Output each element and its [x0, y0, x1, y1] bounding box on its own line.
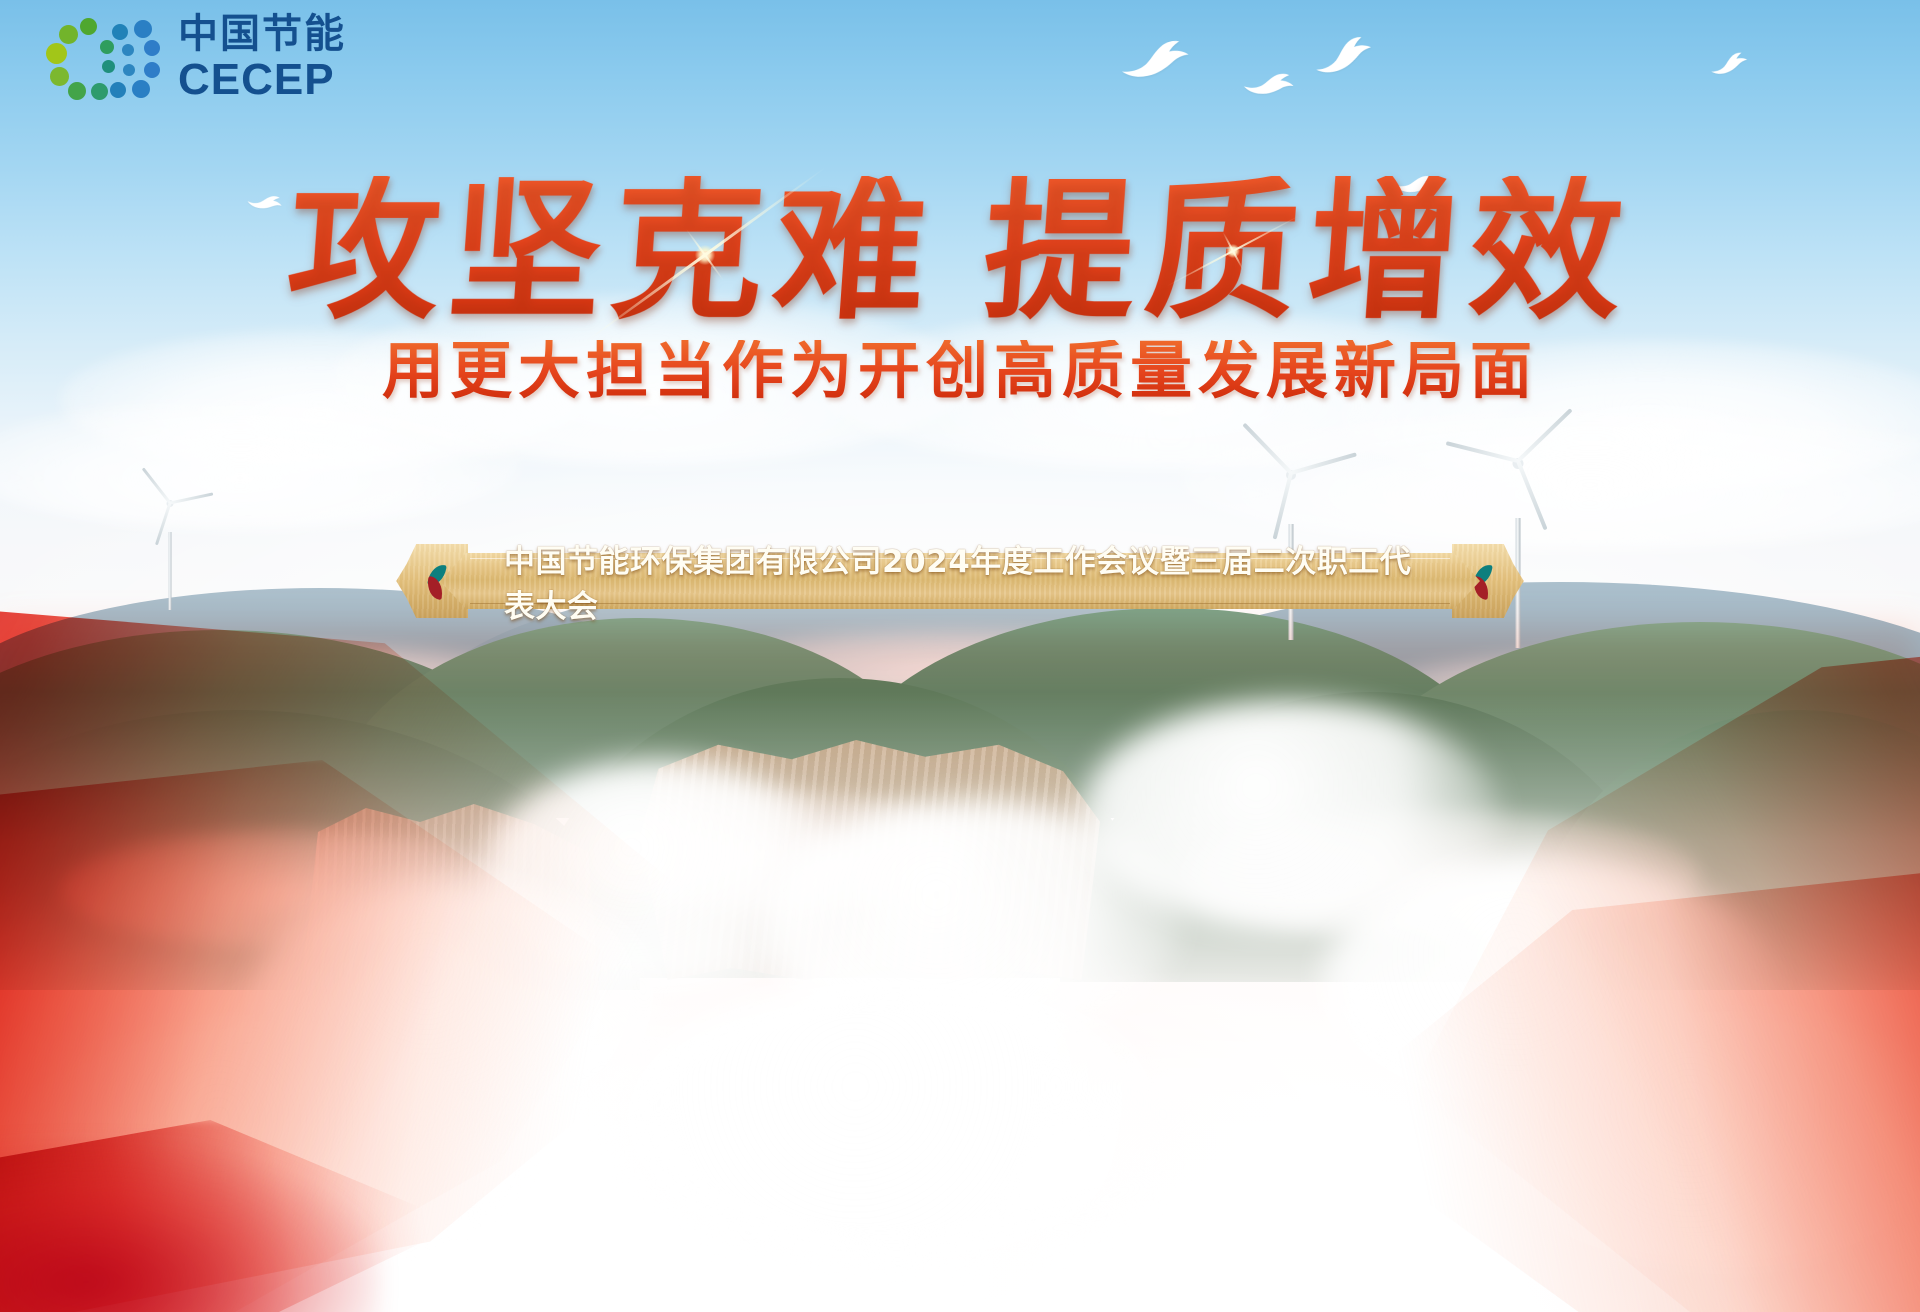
conference-title-ribbon: 中国节能环保集团有限公司2024年度工作会议暨三届二次职工代表大会	[440, 553, 1480, 609]
headline-part-2: 提质增效	[978, 163, 1638, 340]
headline-part-1: 攻坚克难	[282, 163, 942, 340]
conference-title-text: 中国节能环保集团有限公司2024年度工作会议暨三届二次职工代表大会	[440, 553, 1480, 609]
bottom-red-glow	[0, 1142, 380, 1312]
logo-english-name: CECEP	[178, 58, 346, 102]
poster-canvas: 中国节能 CECEP 攻坚克难提质增效 用更大担当作为开创高质量发展新局面	[0, 0, 1920, 1312]
cloud-puff	[620, 980, 1180, 1260]
logo-chinese-name: 中国节能	[178, 14, 346, 54]
wind-turbine-icon	[140, 500, 200, 610]
poster-headline: 攻坚克难提质增效	[0, 176, 1920, 328]
cecep-circular-dots-logo-icon	[44, 12, 160, 104]
cecep-logo[interactable]: 中国节能 CECEP	[44, 12, 346, 104]
poster-subtitle: 用更大担当作为开创高质量发展新局面	[0, 340, 1920, 402]
dove-icon	[1116, 34, 1194, 85]
